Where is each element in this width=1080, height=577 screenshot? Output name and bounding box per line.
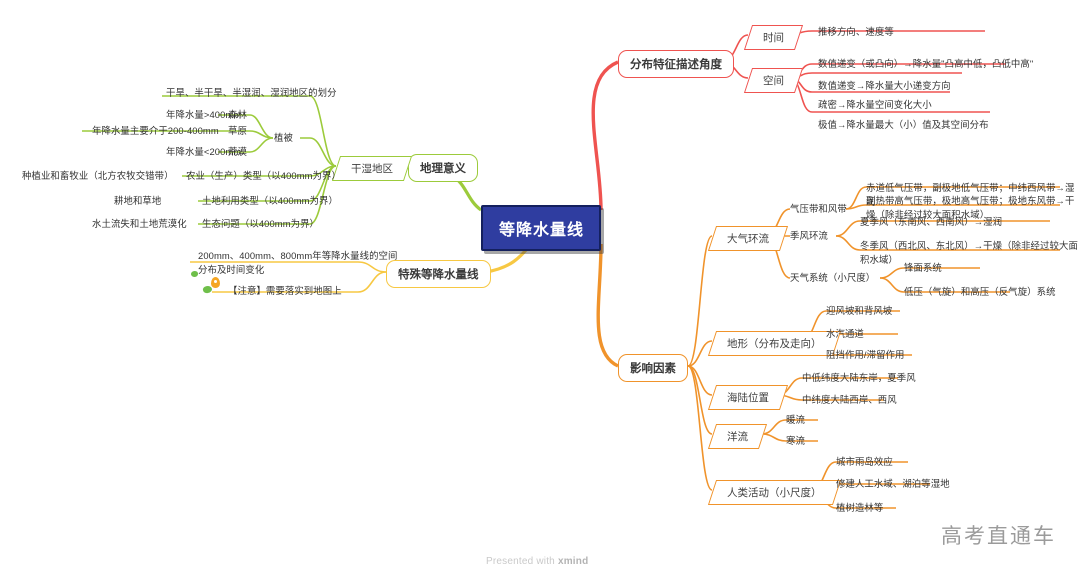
subtopic-terrain[interactable]: 地形（分布及走向） xyxy=(708,331,841,356)
leaf-ecology-detail: 水土流失和土地荒漠化 xyxy=(92,217,187,231)
leaf-landuse-detail: 耕地和草地 xyxy=(114,194,161,208)
subtopic-dry-wet-region[interactable]: 干湿地区 xyxy=(332,156,412,181)
leaf-space-4: 极值→降水量最大（小）值及其空间分布 xyxy=(818,118,989,132)
leaf-vegetation-value-3: 年降水量<200mm xyxy=(166,145,241,159)
leaf-landsea-1: 中低纬度大陆东岸，夏季风 xyxy=(802,371,916,385)
topic-distribution[interactable]: 分布特征描述角度 xyxy=(618,50,734,78)
leaf-ecology-type: 生态问题（以400mm为界） xyxy=(202,217,319,231)
leaf-vegetation: 植被 xyxy=(274,131,293,145)
leaf-vegetation-type-2: 草原 xyxy=(228,124,247,138)
leaf-vegetation-value-2: 年降水量主要介于200-400mm xyxy=(92,124,219,138)
leaf-terrain-1: 迎风坡和背风坡 xyxy=(826,304,892,318)
topic-special-isohyet[interactable]: 特殊等降水量线 xyxy=(386,260,491,288)
leaf-landuse-type: 土地利用类型（以400mm为界） xyxy=(202,194,338,208)
leaf-human-3: 植树造林等 xyxy=(836,501,883,515)
leaf-agriculture-type: 农业（生产）类型（以400mm为界） xyxy=(186,169,341,183)
root-node[interactable]: 等降水量线 xyxy=(481,205,601,251)
footer-brand: xmind xyxy=(558,556,588,567)
group-monsoon-circulation: 季风环流 xyxy=(790,229,828,243)
subtopic-land-sea-position[interactable]: 海陆位置 xyxy=(708,385,788,410)
footer-prefix: Presented with xyxy=(486,556,558,567)
group-weather-system: 天气系统（小尺度） xyxy=(790,271,875,285)
leaf-space-2: 数值递变→降水量大小递变方向 xyxy=(818,79,951,93)
subtopic-atmospheric-circulation[interactable]: 大气环流 xyxy=(708,226,788,251)
group-pressure-wind-belts: 气压带和风带 xyxy=(790,202,847,216)
note-map-reminder: 【注意】需要落实到地图上 xyxy=(200,280,342,301)
leaf-weather-1: 锋面系统 xyxy=(904,261,942,275)
topic-influencing-factors[interactable]: 影响因素 xyxy=(618,354,688,382)
leaf-agriculture-detail: 种植业和畜牧业（北方农牧交错带） xyxy=(22,169,174,183)
leaf-landsea-2: 中纬度大陆西岸、西风 xyxy=(802,393,897,407)
leaf-current-warm: 暖流 xyxy=(786,413,805,427)
leaf-space-3: 疏密→降水量空间变化大小 xyxy=(818,98,932,112)
leaf-current-cold: 寒流 xyxy=(786,434,805,448)
leaf-weather-2: 低压（气旋）和高压（反气旋）系统 xyxy=(904,285,1056,299)
note-text: 【注意】需要落实到地图上 xyxy=(228,284,342,298)
subtopic-human-activity[interactable]: 人类活动（小尺度） xyxy=(708,480,841,505)
leaf-terrain-2: 水汽通道 xyxy=(826,327,864,341)
footer-credit: Presented with xmind xyxy=(486,556,588,567)
leaf-vegetation-value-1: 年降水量>400mm xyxy=(166,108,241,122)
leaf-monsoon-2: 冬季风（西北风、东北风）→干燥（除非经过较大面积水域） xyxy=(860,239,1080,266)
subtopic-ocean-current[interactable]: 洋流 xyxy=(708,424,767,449)
watermark: 高考直通车 xyxy=(941,520,1056,550)
leaf-special-1: 200mm、400mm、800mm年等降水量线的空间分布及时间变化 xyxy=(198,249,398,276)
globe-pin-icon xyxy=(200,280,221,301)
leaf-space-1: 数值递变（或凸向）→降水量"凸高中低，凸低中高" xyxy=(818,57,1033,71)
leaf-monsoon-1: 夏季风（东南风、西南风）→湿润 xyxy=(860,215,1002,229)
mindmap-canvas: 等降水量线 分布特征描述角度 时间 空间 推移方向、速度等 数值递变（或凸向）→… xyxy=(0,0,1080,577)
leaf-terrain-3: 阻挡作用/滞留作用 xyxy=(826,348,905,362)
leaf-time-1: 推移方向、速度等 xyxy=(818,25,894,39)
subtopic-time[interactable]: 时间 xyxy=(744,25,803,50)
leaf-human-2: 修建人工水域、湖泊等湿地 xyxy=(836,477,950,491)
leaf-region-division: 干旱、半干旱、半湿润、湿润地区的划分 xyxy=(166,86,337,100)
leaf-human-1: 城市雨岛效应 xyxy=(836,455,893,469)
subtopic-space[interactable]: 空间 xyxy=(744,68,803,93)
topic-geography[interactable]: 地理意义 xyxy=(408,154,478,182)
